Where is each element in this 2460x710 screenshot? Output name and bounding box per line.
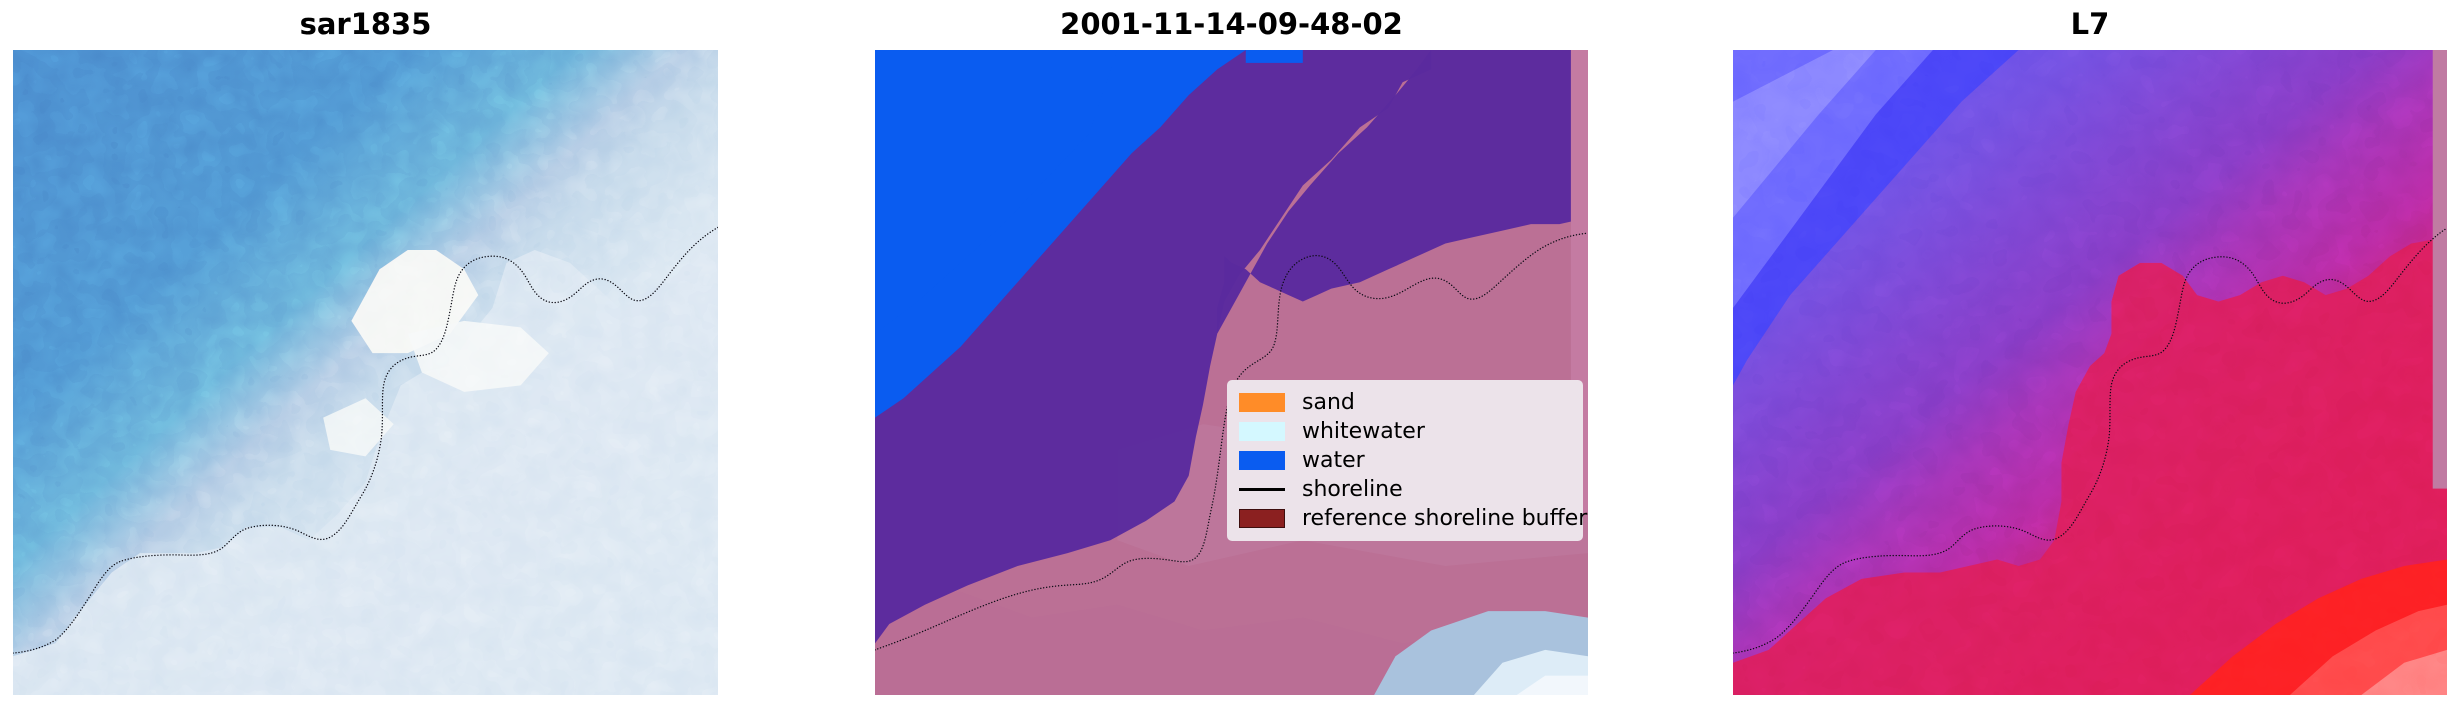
sand-color-swatch	[1239, 393, 1285, 412]
axes-classified	[875, 50, 1588, 695]
axes-sar	[13, 50, 718, 695]
legend-item-water: water	[1239, 446, 1573, 475]
shoreline-line-sample	[1239, 480, 1285, 499]
legend-label-reference-shoreline-buffer: reference shoreline buffer	[1302, 506, 1587, 532]
legend-item-whitewater: whitewater	[1239, 417, 1573, 446]
panel-l7: L7	[1733, 0, 2447, 710]
legend-box: sand whitewater water shoreline referenc…	[1227, 380, 1583, 541]
legend-item-shoreline: shoreline	[1239, 475, 1573, 504]
legend-label-sand: sand	[1302, 390, 1355, 416]
classified-raster-image	[875, 50, 1588, 695]
legend-label-water: water	[1302, 448, 1365, 474]
whitewater-color-swatch	[1239, 422, 1285, 441]
l7-raster-image	[1733, 50, 2447, 695]
panel-sar: sar1835	[13, 0, 718, 710]
legend-item-sand: sand	[1239, 388, 1573, 417]
legend-label-shoreline: shoreline	[1302, 477, 1403, 503]
sar-raster-image	[13, 50, 718, 695]
axes-l7	[1733, 50, 2447, 695]
shoreline-line-glyph	[1239, 488, 1285, 491]
panel-title-sar: sar1835	[13, 6, 718, 42]
panel-title-l7: L7	[1733, 6, 2447, 42]
water-color-swatch	[1239, 451, 1285, 470]
figure-canvas: sar1835	[0, 0, 2460, 710]
legend-item-reference-shoreline-buffer: reference shoreline buffer	[1239, 504, 1573, 533]
panel-classified: 2001-11-14-09-48-02	[875, 0, 1588, 710]
legend-label-whitewater: whitewater	[1302, 419, 1425, 445]
reference-buffer-color-swatch	[1239, 509, 1285, 528]
panel-title-classified: 2001-11-14-09-48-02	[875, 6, 1588, 42]
